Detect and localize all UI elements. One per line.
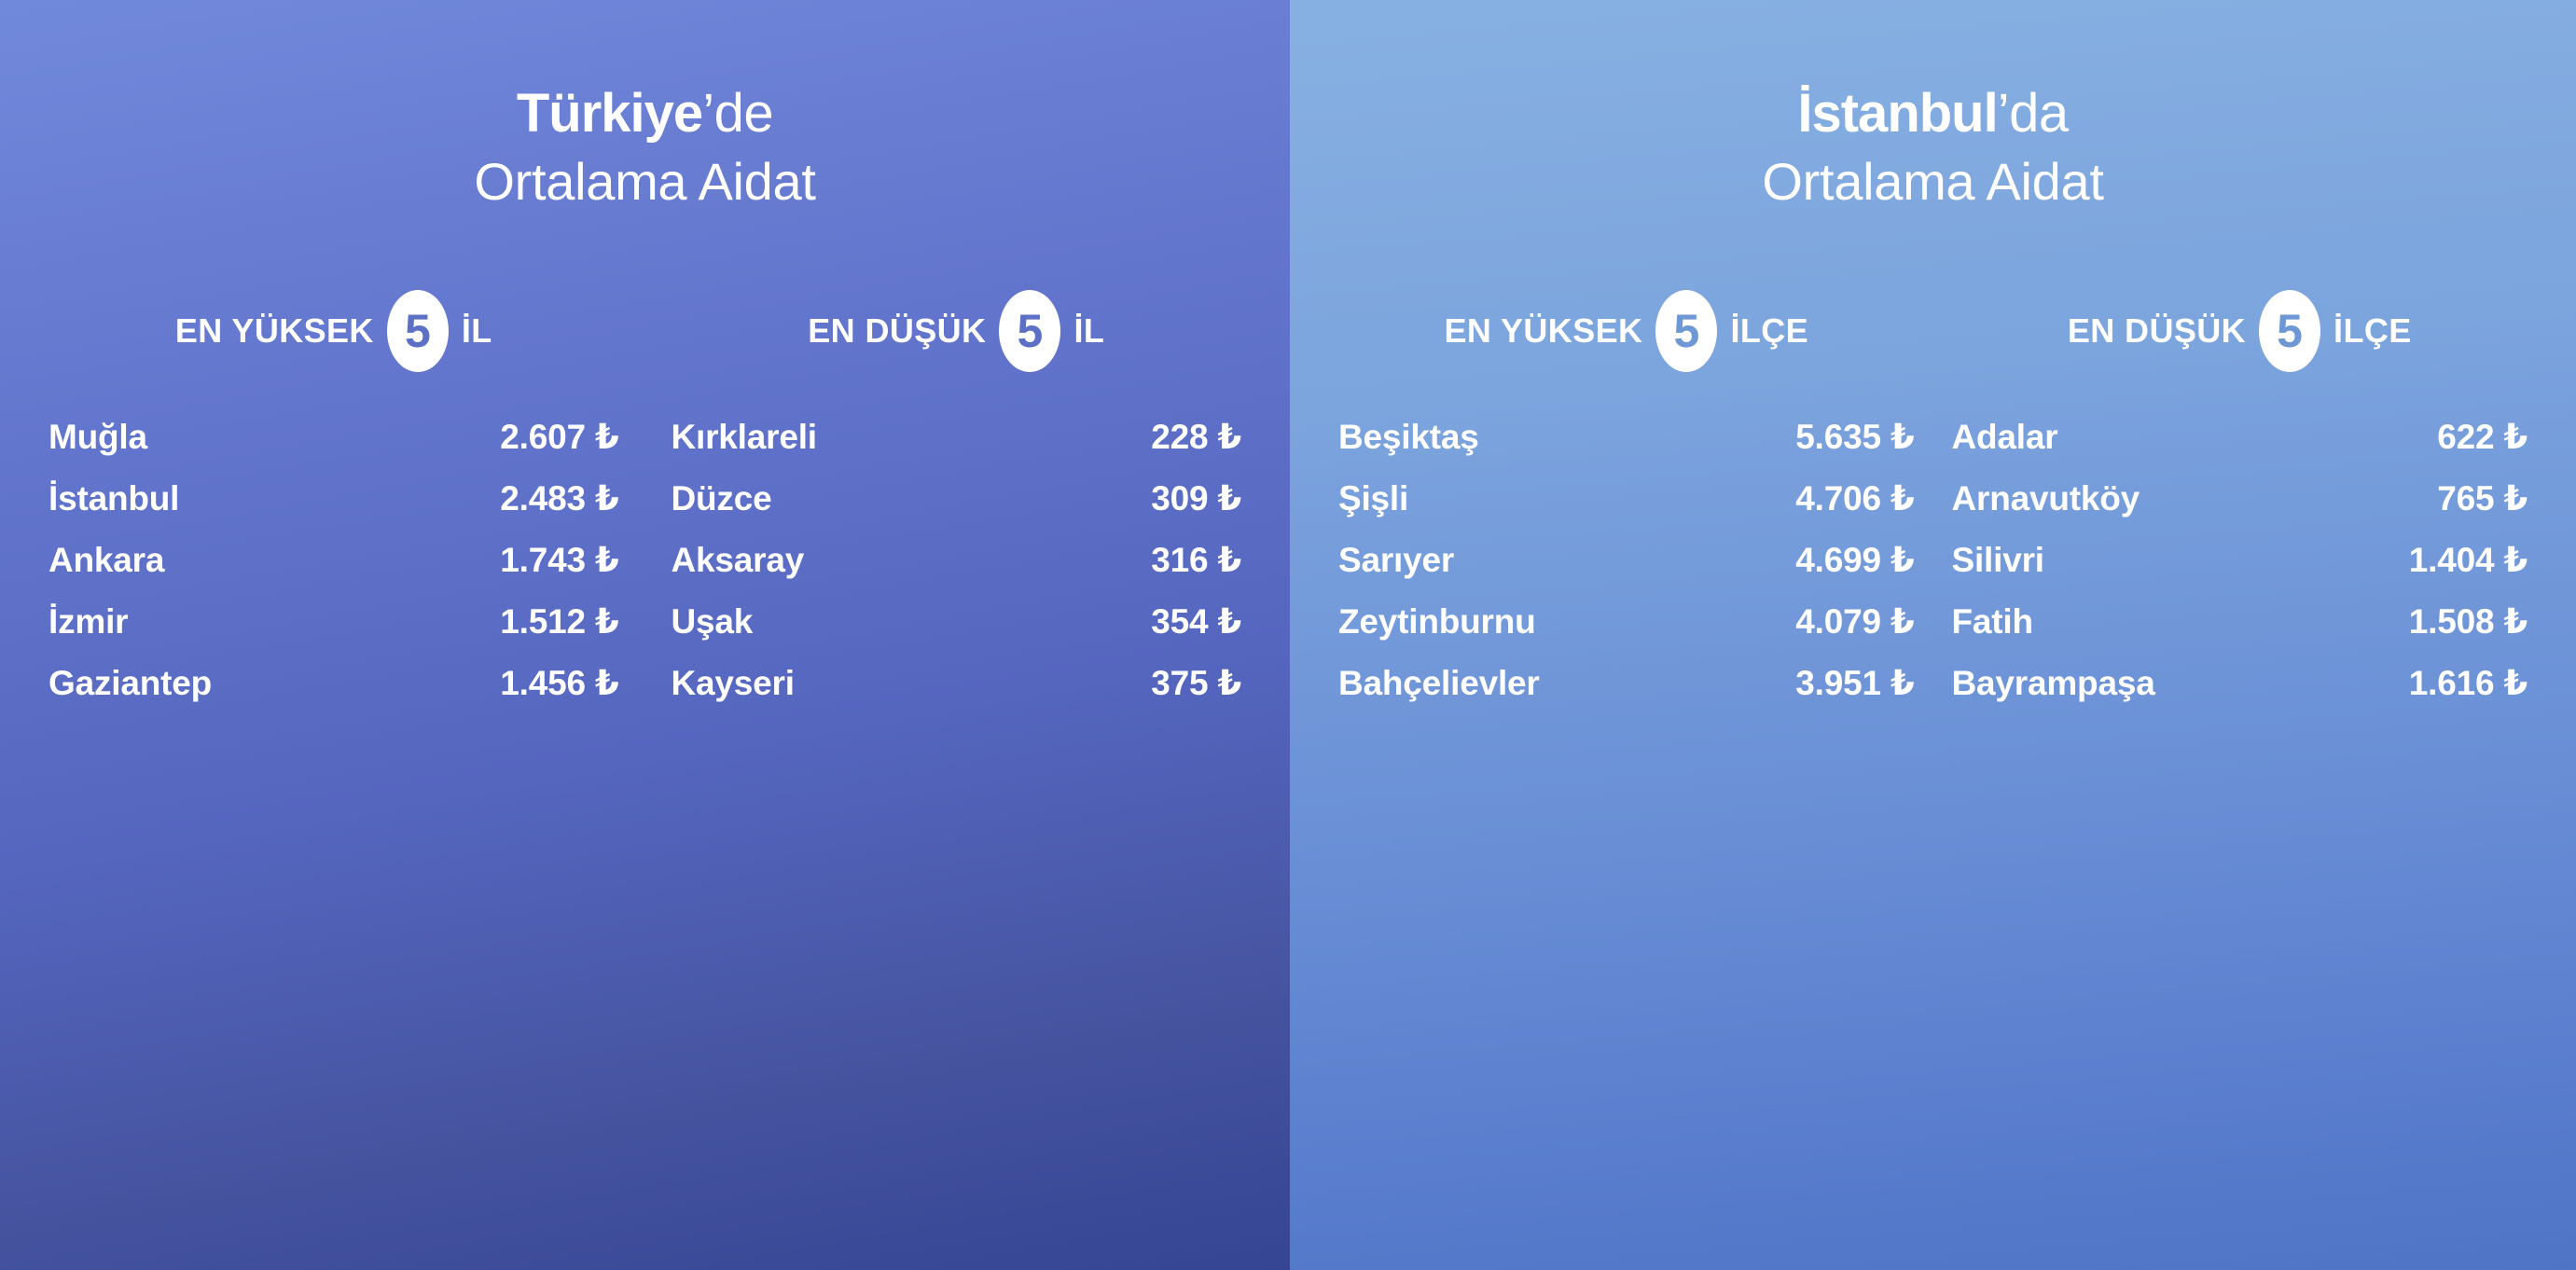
row-value: 1.508 ₺ bbox=[2389, 601, 2528, 642]
count-badge-icon: 5 bbox=[1655, 290, 1717, 372]
panel-istanbul-title-strong: İstanbul bbox=[1797, 83, 1997, 144]
column-en-yuksek-ilce-header-prefix: EN YÜKSEK bbox=[1444, 311, 1642, 351]
row-value: 4.706 ₺ bbox=[1775, 478, 1914, 518]
row-label: Kayseri bbox=[672, 664, 795, 703]
column-en-dusuk-ilce: EN DÜŞÜK 5 İLÇE Adalar 622 ₺ Arnavutköy … bbox=[1933, 286, 2528, 725]
table-row: Bahçelievler 3.951 ₺ bbox=[1338, 663, 1915, 725]
column-en-dusuk-il-header-prefix: EN DÜŞÜK bbox=[808, 311, 986, 351]
column-en-dusuk-ilce-header-suffix: İLÇE bbox=[2334, 311, 2412, 351]
count-badge-icon: 5 bbox=[2259, 290, 2320, 372]
row-label: Gaziantep bbox=[48, 664, 212, 703]
row-value: 5.635 ₺ bbox=[1775, 417, 1914, 457]
row-value: 354 ₺ bbox=[1130, 601, 1241, 642]
panel-turkiye-title: Türkiye’de Ortalama Aidat bbox=[0, 0, 1290, 214]
column-en-yuksek-ilce: EN YÜKSEK 5 İLÇE Beşiktaş 5.635 ₺ Şişli … bbox=[1338, 286, 1933, 725]
row-value: 3.951 ₺ bbox=[1775, 663, 1914, 703]
count-badge-icon: 5 bbox=[387, 290, 449, 372]
row-value: 316 ₺ bbox=[1130, 540, 1241, 580]
row-label: Beşiktaş bbox=[1338, 418, 1479, 457]
row-value: 375 ₺ bbox=[1130, 663, 1241, 703]
column-en-dusuk-ilce-header-prefix: EN DÜŞÜK bbox=[2068, 311, 2246, 351]
row-label: Düzce bbox=[672, 479, 772, 518]
row-label: Aksaray bbox=[672, 541, 805, 580]
row-label: Kırklareli bbox=[672, 418, 817, 457]
row-label: Muğla bbox=[48, 418, 147, 457]
table-row: Kırklareli 228 ₺ bbox=[672, 417, 1242, 478]
column-en-dusuk-ilce-header: EN DÜŞÜK 5 İLÇE bbox=[1952, 286, 2528, 376]
table-row: Fatih 1.508 ₺ bbox=[1952, 601, 2528, 663]
panel-turkiye-columns: EN YÜKSEK 5 İL Muğla 2.607 ₺ İstanbul 2.… bbox=[0, 286, 1290, 725]
column-en-dusuk-il-header: EN DÜŞÜK 5 İL bbox=[672, 286, 1242, 376]
column-en-yuksek-il: EN YÜKSEK 5 İL Muğla 2.607 ₺ İstanbul 2.… bbox=[48, 286, 645, 725]
infographic-root: Türkiye’de Ortalama Aidat EN YÜKSEK 5 İL… bbox=[0, 0, 2576, 1270]
row-label: Bayrampaşa bbox=[1952, 664, 2155, 703]
row-label: Arnavutköy bbox=[1952, 479, 2140, 518]
row-value: 4.699 ₺ bbox=[1775, 540, 1914, 580]
row-label: Adalar bbox=[1952, 418, 2058, 457]
column-en-yuksek-ilce-header-suffix: İLÇE bbox=[1730, 311, 1808, 351]
column-en-yuksek-il-header-suffix: İL bbox=[462, 311, 492, 351]
table-row: Gaziantep 1.456 ₺ bbox=[48, 663, 619, 725]
row-value: 228 ₺ bbox=[1130, 417, 1241, 457]
row-label: İstanbul bbox=[48, 479, 179, 518]
column-en-yuksek-ilce-header: EN YÜKSEK 5 İLÇE bbox=[1338, 286, 1915, 376]
row-value: 309 ₺ bbox=[1130, 478, 1241, 518]
table-row: İzmir 1.512 ₺ bbox=[48, 601, 619, 663]
row-label: Sarıyer bbox=[1338, 541, 1454, 580]
column-en-yuksek-il-header: EN YÜKSEK 5 İL bbox=[48, 286, 619, 376]
row-value: 2.607 ₺ bbox=[479, 417, 618, 457]
panel-turkiye-title-line-2: Ortalama Aidat bbox=[0, 151, 1290, 213]
table-row: Muğla 2.607 ₺ bbox=[48, 417, 619, 478]
table-row: Düzce 309 ₺ bbox=[672, 478, 1242, 540]
row-value: 622 ₺ bbox=[2417, 417, 2528, 457]
table-row: Arnavutköy 765 ₺ bbox=[1952, 478, 2528, 540]
table-row: İstanbul 2.483 ₺ bbox=[48, 478, 619, 540]
row-value: 2.483 ₺ bbox=[479, 478, 618, 518]
table-row: Şişli 4.706 ₺ bbox=[1338, 478, 1915, 540]
table-row: Uşak 354 ₺ bbox=[672, 601, 1242, 663]
panel-istanbul-columns: EN YÜKSEK 5 İLÇE Beşiktaş 5.635 ₺ Şişli … bbox=[1290, 286, 2576, 725]
column-en-yuksek-il-rows: Muğla 2.607 ₺ İstanbul 2.483 ₺ Ankara 1.… bbox=[48, 417, 619, 725]
panel-turkiye-title-suffix: ’de bbox=[702, 83, 773, 144]
row-value: 1.743 ₺ bbox=[479, 540, 618, 580]
panel-istanbul-title: İstanbul’da Ortalama Aidat bbox=[1290, 0, 2576, 214]
row-value: 1.616 ₺ bbox=[2389, 663, 2528, 703]
column-en-dusuk-il-rows: Kırklareli 228 ₺ Düzce 309 ₺ Aksaray 316… bbox=[672, 417, 1242, 725]
row-value: 765 ₺ bbox=[2417, 478, 2528, 518]
row-label: Zeytinburnu bbox=[1338, 602, 1536, 642]
panel-turkiye: Türkiye’de Ortalama Aidat EN YÜKSEK 5 İL… bbox=[0, 0, 1290, 1270]
panel-turkiye-title-strong: Türkiye bbox=[517, 83, 702, 144]
column-en-dusuk-il: EN DÜŞÜK 5 İL Kırklareli 228 ₺ Düzce 309… bbox=[645, 286, 1242, 725]
row-label: Silivri bbox=[1952, 541, 2044, 580]
table-row: Sarıyer 4.699 ₺ bbox=[1338, 540, 1915, 601]
column-en-dusuk-ilce-rows: Adalar 622 ₺ Arnavutköy 765 ₺ Silivri 1.… bbox=[1952, 417, 2528, 725]
column-en-yuksek-il-header-prefix: EN YÜKSEK bbox=[175, 311, 374, 351]
panel-istanbul-title-line-1: İstanbul’da bbox=[1290, 82, 2576, 145]
count-badge-icon: 5 bbox=[999, 290, 1060, 372]
row-value: 1.512 ₺ bbox=[479, 601, 618, 642]
row-value: 4.079 ₺ bbox=[1775, 601, 1914, 642]
row-label: Ankara bbox=[48, 541, 164, 580]
row-label: İzmir bbox=[48, 602, 128, 642]
table-row: Ankara 1.743 ₺ bbox=[48, 540, 619, 601]
panel-istanbul-title-suffix: ’da bbox=[1998, 83, 2069, 144]
row-value: 1.404 ₺ bbox=[2389, 540, 2528, 580]
row-label: Şişli bbox=[1338, 479, 1408, 518]
table-row: Bayrampaşa 1.616 ₺ bbox=[1952, 663, 2528, 725]
panel-istanbul-title-line-2: Ortalama Aidat bbox=[1290, 151, 2576, 213]
row-label: Uşak bbox=[672, 602, 754, 642]
table-row: Aksaray 316 ₺ bbox=[672, 540, 1242, 601]
row-value: 1.456 ₺ bbox=[479, 663, 618, 703]
table-row: Adalar 622 ₺ bbox=[1952, 417, 2528, 478]
table-row: Zeytinburnu 4.079 ₺ bbox=[1338, 601, 1915, 663]
panel-turkiye-title-line-1: Türkiye’de bbox=[0, 82, 1290, 145]
column-en-dusuk-il-header-suffix: İL bbox=[1073, 311, 1104, 351]
column-en-yuksek-ilce-rows: Beşiktaş 5.635 ₺ Şişli 4.706 ₺ Sarıyer 4… bbox=[1338, 417, 1915, 725]
table-row: Beşiktaş 5.635 ₺ bbox=[1338, 417, 1915, 478]
row-label: Fatih bbox=[1952, 602, 2033, 642]
table-row: Kayseri 375 ₺ bbox=[672, 663, 1242, 725]
panel-istanbul: İstanbul’da Ortalama Aidat EN YÜKSEK 5 İ… bbox=[1290, 0, 2576, 1270]
table-row: Silivri 1.404 ₺ bbox=[1952, 540, 2528, 601]
row-label: Bahçelievler bbox=[1338, 664, 1540, 703]
